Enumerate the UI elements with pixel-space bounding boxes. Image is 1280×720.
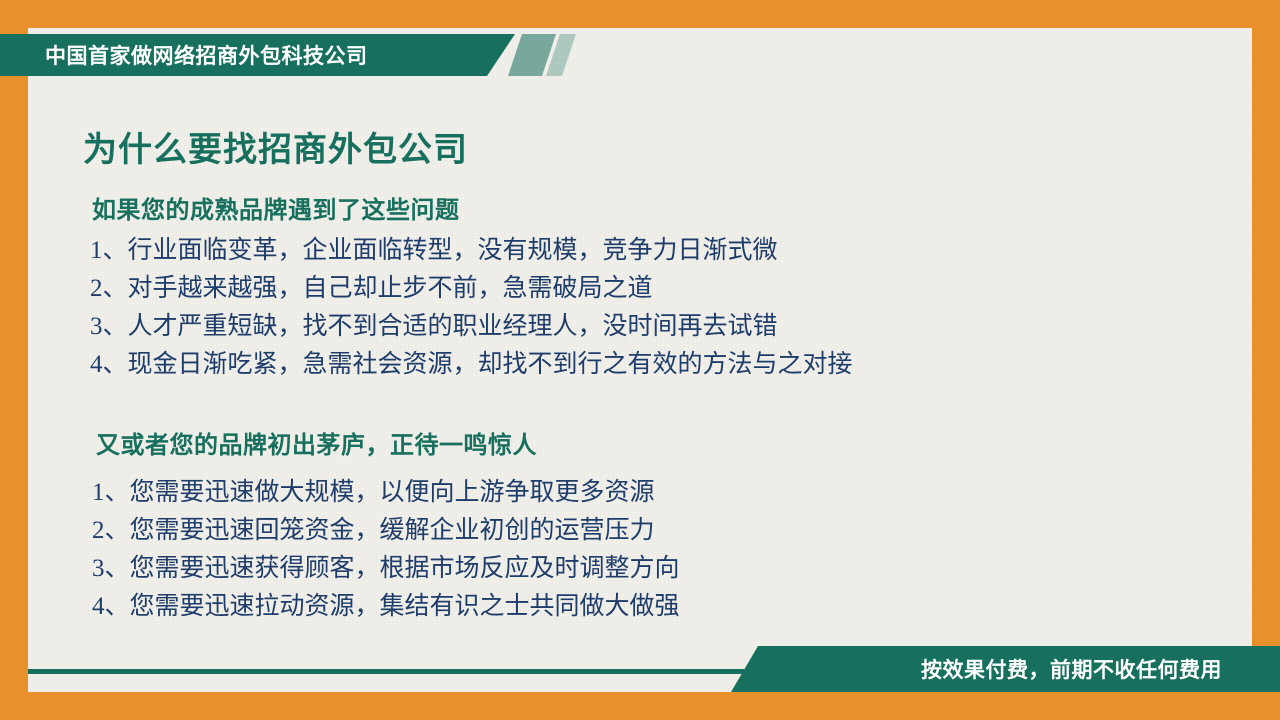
list-item: 3、您需要迅速获得顾客，根据市场反应及时调整方向	[92, 550, 680, 588]
header-ribbon-label: 中国首家做网络招商外包科技公司	[45, 40, 368, 70]
section-2-header: 又或者您的品牌初出茅庐，正待一鸣惊人	[96, 425, 537, 460]
list-item: 2、对手越来越强，自己却止步不前，急需破局之道	[90, 270, 853, 308]
slide-canvas: 中国首家做网络招商外包科技公司 为什么要找招商外包公司 如果您的成熟品牌遇到了这…	[0, 0, 1280, 720]
footer-label: 按效果付费，前期不收任何费用	[921, 654, 1222, 684]
list-item: 1、您需要迅速做大规模，以便向上游争取更多资源	[92, 474, 680, 512]
list-item: 4、现金日渐吃紧，急需社会资源，却找不到行之有效的方法与之对接	[90, 346, 853, 384]
section-2-list: 1、您需要迅速做大规模，以便向上游争取更多资源 2、您需要迅速回笼资金，缓解企业…	[92, 474, 680, 626]
list-item: 4、您需要迅速拉动资源，集结有识之士共同做大做强	[92, 588, 680, 626]
list-item: 1、行业面临变革，企业面临转型，没有规模，竞争力日渐式微	[90, 232, 853, 270]
page-title: 为什么要找招商外包公司	[83, 122, 468, 171]
section-1-header: 如果您的成熟品牌遇到了这些问题	[92, 190, 460, 225]
footer-rule	[28, 669, 744, 674]
list-item: 3、人才严重短缺，找不到合适的职业经理人，没时间再去试错	[90, 308, 853, 346]
header-ribbon: 中国首家做网络招商外包科技公司	[0, 34, 515, 76]
list-item: 2、您需要迅速回笼资金，缓解企业初创的运营压力	[92, 512, 680, 550]
section-1-list: 1、行业面临变革，企业面临转型，没有规模，竞争力日渐式微 2、对手越来越强，自己…	[90, 232, 853, 384]
